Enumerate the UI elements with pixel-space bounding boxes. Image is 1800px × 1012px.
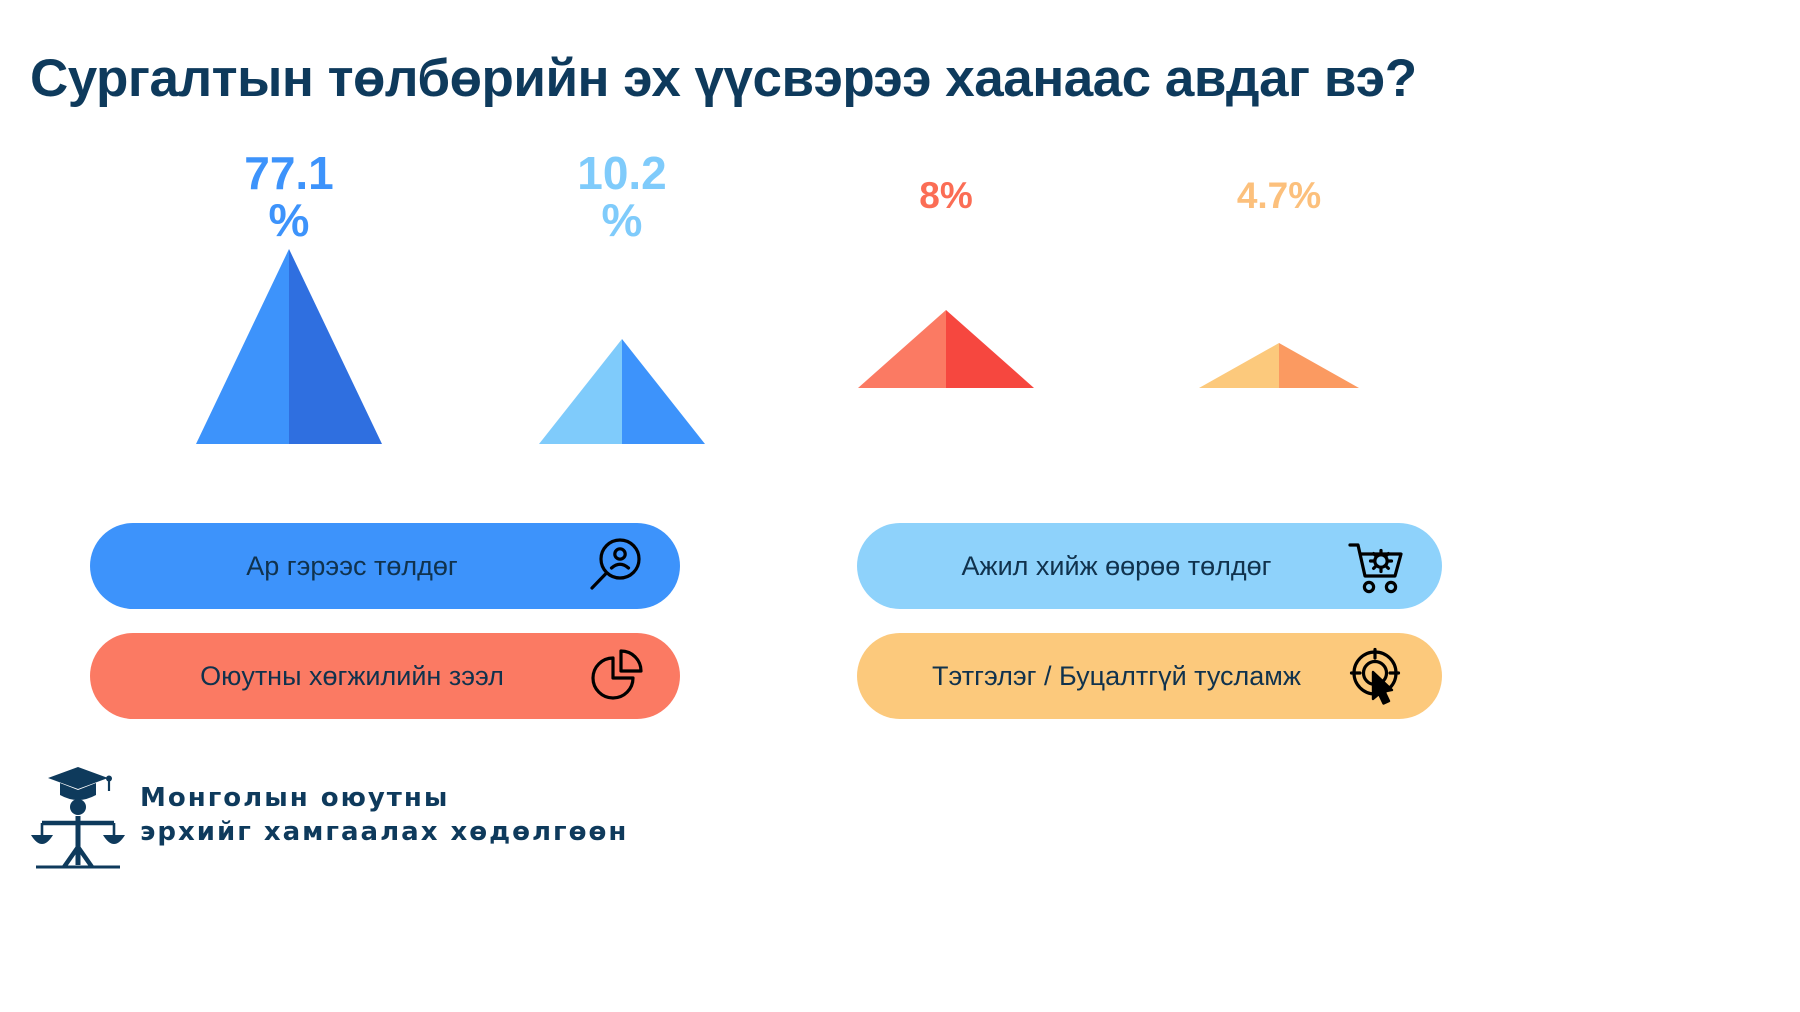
legend-pill-label: Оюутны хөгжилийн зээл: [130, 661, 574, 692]
pie-chart-icon: [584, 645, 646, 707]
percent-label: 4.7%: [1199, 177, 1359, 215]
legend-pill-label: Тэтгэлэг / Буцалтгүй тусламж: [897, 661, 1336, 692]
shopping-cart-gear-icon: [1346, 535, 1408, 597]
magnifier-person-icon: [584, 535, 646, 597]
legend-pill-label: Ар гэрээс төлдөг: [130, 551, 574, 582]
pyramid-left-face: [196, 249, 289, 444]
logo-line-1: Монголын оюутны: [140, 781, 628, 815]
organization-logo: Монголын оюутны эрхийг хамгаалах хөдөлгө…: [30, 755, 650, 875]
pyramid-shape: [196, 249, 382, 444]
infographic-canvas: Сургалтын төлбөрийн эх үүсвэрээ хаанаас …: [0, 0, 1800, 1012]
pyramid-shape: [1199, 343, 1359, 388]
pyramid-chart: 77.1 %10.2 %8%4.7%: [0, 150, 1800, 480]
pyramid-right-face: [1279, 343, 1359, 388]
pyramid-left-face: [1199, 343, 1279, 388]
pyramid-77: 77.1 %: [196, 150, 382, 444]
graduation-scales-icon: [30, 761, 126, 869]
logo-line-2: эрхийг хамгаалах хөдөлгөөн: [140, 815, 628, 849]
legend-pill-student-loan[interactable]: Оюутны хөгжилийн зээл: [90, 633, 680, 719]
legend-group: Ар гэрээс төлдөг Ажил хийж өөрөө төлдөг …: [0, 505, 1800, 745]
pyramid-shape: [858, 310, 1034, 388]
pyramid-right-face: [946, 310, 1034, 388]
pyramid-right-face: [289, 249, 382, 444]
pyramid-shape: [539, 339, 705, 444]
page-title: Сургалтын төлбөрийн эх үүсвэрээ хаанаас …: [30, 48, 1770, 109]
percent-label: 77.1 %: [196, 150, 382, 244]
legend-pill-parents[interactable]: Ар гэрээс төлдөг: [90, 523, 680, 609]
pyramid-102: 10.2 %: [539, 150, 705, 444]
pyramid-left-face: [539, 339, 622, 444]
pyramid-right-face: [622, 339, 705, 444]
percent-label: 8%: [858, 177, 1034, 215]
legend-pill-self-work[interactable]: Ажил хийж өөрөө төлдөг: [857, 523, 1442, 609]
logo-text: Монголын оюутны эрхийг хамгаалах хөдөлгө…: [140, 781, 628, 850]
pyramid-47: 4.7%: [1199, 150, 1359, 388]
legend-pill-label: Ажил хийж өөрөө төлдөг: [897, 551, 1336, 582]
target-cursor-icon: [1346, 645, 1408, 707]
legend-pill-scholarship[interactable]: Тэтгэлэг / Буцалтгүй тусламж: [857, 633, 1442, 719]
pyramid-8: 8%: [858, 150, 1034, 388]
pyramid-left-face: [858, 310, 946, 388]
percent-label: 10.2 %: [539, 150, 705, 244]
